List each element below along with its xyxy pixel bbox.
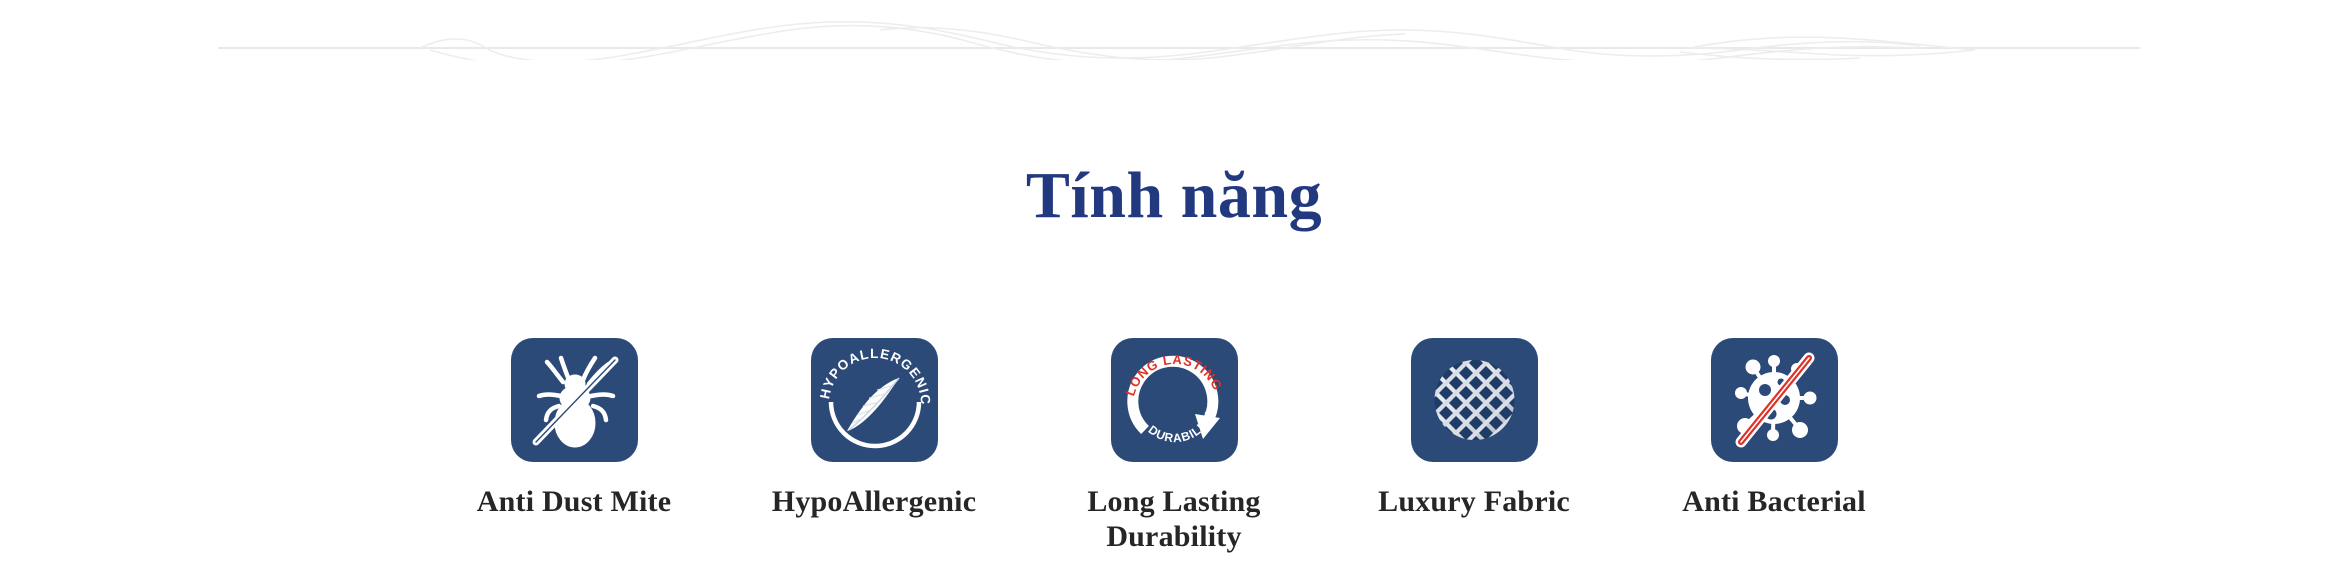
circular-arrow-durability-icon: LONG LASTING DURABILITY (1111, 338, 1238, 462)
feature-label-luxury-fabric: Luxury Fabric (1378, 484, 1570, 519)
feature-item-hypoallergenic[interactable]: HYPOALLERGENIC HypoAllergenic (724, 338, 1024, 519)
wave-divider (0, 0, 2348, 60)
page-title: Tính năng (0, 160, 2348, 233)
features-row: Anti Dust Mite HYPOALLERGENIC (0, 338, 2348, 555)
woven-fabric-mesh-icon (1411, 338, 1538, 462)
feature-label-anti-dust-mite: Anti Dust Mite (477, 484, 671, 519)
divider-waves (420, 22, 1975, 60)
svg-text:DURABILITY: DURABILITY (1145, 410, 1215, 446)
bacteria-crossed-icon (1711, 338, 1838, 462)
feather-hypoallergenic-icon: HYPOALLERGENIC (811, 338, 938, 462)
dust-mite-crossed-icon (511, 338, 638, 462)
feature-label-long-lasting-durability: Long Lasting Durability (1044, 484, 1304, 555)
feature-item-anti-bacterial[interactable]: Anti Bacterial (1624, 338, 1924, 519)
wave-divider-graphic (0, 0, 2348, 60)
feature-item-luxury-fabric[interactable]: Luxury Fabric (1324, 338, 1624, 519)
feature-label-hypoallergenic: HypoAllergenic (772, 484, 976, 519)
feature-item-anti-dust-mite[interactable]: Anti Dust Mite (424, 338, 724, 519)
feature-label-anti-bacterial: Anti Bacterial (1682, 484, 1866, 519)
feature-item-long-lasting-durability[interactable]: LONG LASTING DURABILITY Long Lasting Dur… (1024, 338, 1324, 555)
